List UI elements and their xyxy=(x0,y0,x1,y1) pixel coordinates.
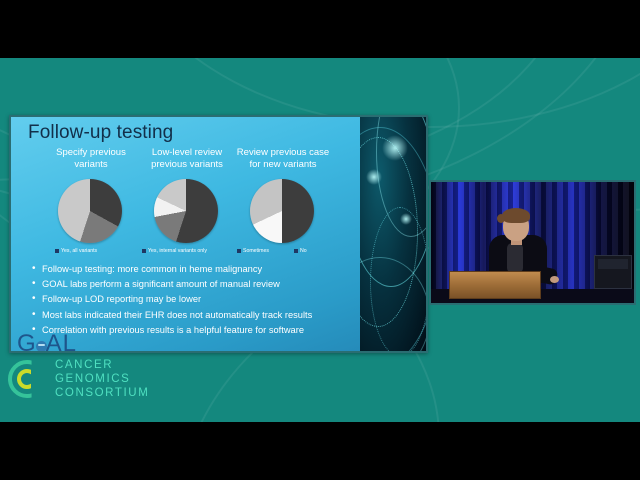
cgc-line-1: CANCER xyxy=(55,358,149,372)
list-item: Follow-up LOD reporting may be lower xyxy=(31,292,361,307)
speaker-hair xyxy=(502,208,530,223)
legend-swatch-icon xyxy=(55,249,59,253)
cancer-genomics-consortium-logo: CANCER GENOMICS CONSORTIUM xyxy=(8,358,149,400)
goal-logo-oval-icon xyxy=(36,341,47,351)
list-item: GOAL labs perform a significant amount o… xyxy=(31,277,361,292)
dna-helix-graphic xyxy=(360,117,426,351)
list-item: Most labs indicated their EHR does not a… xyxy=(31,308,361,323)
slide-bullet-list: Follow-up testing: more common in heme m… xyxy=(31,262,361,338)
legend-item-yes-internal-variants-only: Yes, internal variants only xyxy=(142,248,207,254)
legend-swatch-icon xyxy=(142,249,146,253)
speaker-hair-bun xyxy=(497,214,505,223)
chart-heading-review-previous-case: Review previous case for new variants xyxy=(233,147,333,170)
pie-chart-review-previous-case xyxy=(250,179,314,243)
list-item: Correlation with previous results is a h… xyxy=(31,323,361,338)
pie-chart-low-level-review xyxy=(154,179,218,243)
chart-heading-low-level-review: Low-level review previous variants xyxy=(137,147,237,170)
legend-label: Yes, all variants xyxy=(61,248,97,254)
letterbox-top xyxy=(0,0,640,58)
legend-label: No xyxy=(300,248,307,254)
podium xyxy=(449,271,541,299)
legend-swatch-icon xyxy=(237,249,241,253)
cgc-line-2: GENOMICS xyxy=(55,372,149,386)
legend-item-sometimes: Sometimes xyxy=(237,248,269,254)
cgc-c-mark-icon xyxy=(8,360,46,398)
legend-label: Yes, internal variants only xyxy=(148,248,207,254)
cgc-inner-ring-icon xyxy=(17,369,37,389)
list-item: Follow-up testing: more common in heme m… xyxy=(31,262,361,277)
legend-item-yes-all-variants: Yes, all variants xyxy=(55,248,97,254)
cgc-logo-text: CANCER GENOMICS CONSORTIUM xyxy=(55,358,149,400)
letterbox-bottom xyxy=(0,422,640,480)
cgc-outer-ring-icon xyxy=(8,360,46,398)
presentation-slide: Follow-up testing Specify previous varia… xyxy=(9,115,428,353)
video-frame: Follow-up testing Specify previous varia… xyxy=(0,0,640,480)
legend-swatch-icon xyxy=(294,249,298,253)
cgc-line-3: CONSORTIUM xyxy=(55,386,149,400)
chart-heading-specify-previous-variants: Specify previous variants xyxy=(41,147,141,170)
goal-logo: GAL xyxy=(17,330,77,351)
legend-label: Sometimes xyxy=(243,248,269,254)
speaker-hand xyxy=(550,276,559,283)
legend-item-no: No xyxy=(294,248,307,254)
slide-title: Follow-up testing xyxy=(28,122,173,144)
speaker-video-inset xyxy=(429,180,636,305)
speaker-scarf xyxy=(507,243,523,273)
pie-chart-specify-previous-variants xyxy=(58,179,122,243)
confidence-monitor xyxy=(594,255,632,289)
